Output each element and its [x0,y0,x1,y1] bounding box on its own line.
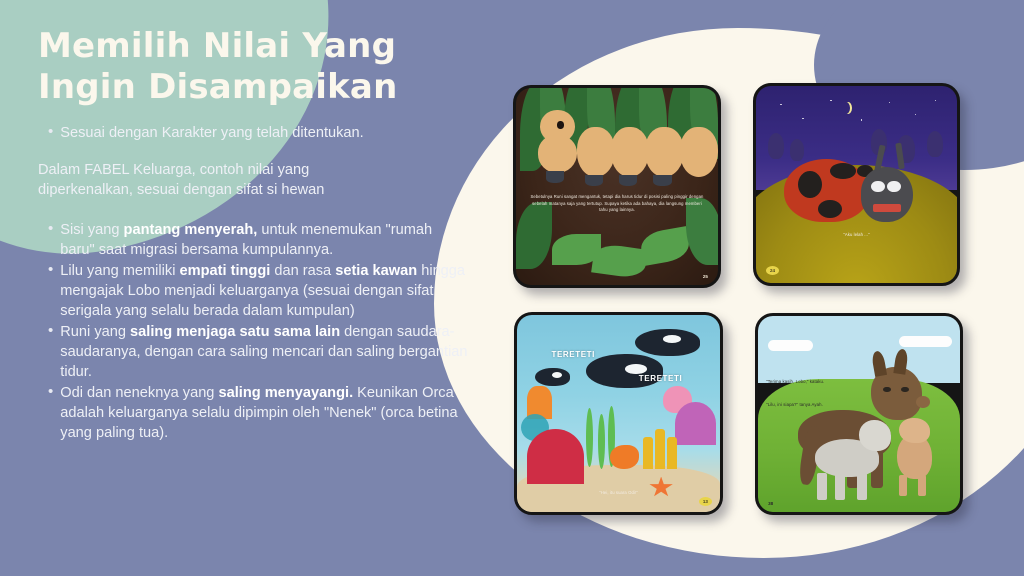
star-icon [780,104,782,106]
wolf-snout [916,396,930,408]
text-column: Memilih Nilai Yang Ingin Disampaikan • S… [0,0,500,576]
pup-leg [817,473,827,500]
tree-icon [790,139,804,161]
seaweed [586,408,593,467]
card-caption: Sebetulnya Runi sangat mengantuk, tetapi… [528,194,706,213]
pup-leg [835,473,845,500]
bullet-dot-icon: • [48,382,53,401]
bullet-dot-icon: • [48,219,53,238]
ladybug-spot [830,163,856,179]
lead-paragraph: Dalam FABEL Keluarga, contoh nilai yang … [38,160,398,200]
coral-red [527,429,584,484]
orca-eye-patch [625,364,647,374]
duckling-foot [546,171,564,183]
duckling-body [577,127,615,176]
pup-leg [857,473,867,500]
sound-label: TERETETI [639,374,682,383]
duckling-body [538,135,576,172]
clownfish [610,445,638,469]
duckling-foot [653,175,671,187]
value-list-item: •Lilu yang memiliki empati tinggi dan ra… [48,261,468,321]
page-title: Memilih Nilai Yang Ingin Disampaikan [38,26,482,109]
page-number: 13 [699,497,712,506]
values-list: •Sisi yang pantang menyerah, untuk menem… [38,220,482,443]
ladybug-mouth [873,204,901,212]
gallery-card-meadow-wolves[interactable]: "Terima kasih, Lobo," kataku. "Lilu, ini… [755,313,963,515]
duckling-body [645,127,683,176]
value-list-item-text: Lilu yang memiliki empati tinggi dan ras… [60,261,468,321]
pup-leg [918,475,926,497]
first-bullet-item: • Sesuai dengan Karakter yang telah dite… [38,123,482,143]
value-list-item-text: Runi yang saling menjaga satu sama lain … [60,322,468,382]
duckling-eye [557,121,563,128]
wolf-pup-grey-head [859,420,891,451]
wolf-pup-tan-head [899,418,929,443]
duckling-body [680,127,718,176]
pup-leg [899,475,907,497]
sound-label: TERETETI [552,350,595,359]
duckling-foot [585,175,603,187]
tube-coral [667,437,677,469]
bullet-dot-icon: • [48,260,53,279]
bullet-dot-icon: • [48,122,53,141]
orca-eye-patch [663,335,681,343]
card-artwork-forest: Sebetulnya Runi sangat mengantuk, tetapi… [516,88,718,285]
value-list-item-text: Sisi yang pantang menyerah, untuk menemu… [60,220,468,260]
value-list-item: •Sisi yang pantang menyerah, untuk menem… [48,220,468,260]
star-icon [861,119,863,121]
duckling-body [611,127,649,176]
tree-icon [768,133,784,159]
tube-coral [655,429,665,468]
orca-eye-patch [552,372,562,378]
tube-coral [643,437,653,469]
star-icon [802,118,804,120]
first-bullet-text: Sesuai dengan Karakter yang telah ditent… [60,123,363,143]
value-list-item: •Odi dan neneknya yang saling menyayangi… [48,383,468,443]
card-caption: "Hei, itu suara Odi!" [529,490,708,496]
value-list-item: •Runi yang saling menjaga satu sama lain… [48,322,468,382]
card-artwork-ocean: TERETETI TERETETI "Hei, itu suara Odi!" … [517,315,720,512]
card-artwork-ladybug: "Aku lelah ..." 24 [756,86,957,283]
ladybug-eye [871,181,885,193]
page-number: 25 [703,274,708,279]
image-gallery: Sebetulnya Runi sangat mengantuk, tetapi… [500,0,1024,576]
card-caption-line-2: "Lilu, ini siapa?" tanya Ayah. [766,402,883,408]
gallery-card-night-ladybug[interactable]: "Aku lelah ..." 24 [753,83,960,286]
card-caption-line-1: "Terima kasih, Lobo," kataku. [766,379,879,385]
gallery-card-ocean-orca[interactable]: TERETETI TERETETI "Hei, itu suara Odi!" … [514,312,723,515]
duckling-foot [619,175,637,187]
coral-purple [675,402,716,445]
ladybug-head [861,167,913,222]
ladybug-eye [887,181,901,193]
slide-canvas: Memilih Nilai Yang Ingin Disampaikan • S… [0,0,1024,576]
page-number: 38 [768,501,773,506]
gallery-card-forest-ducklings[interactable]: Sebetulnya Runi sangat mengantuk, tetapi… [513,85,721,288]
cloud-icon [768,340,812,352]
value-list-item-text: Odi dan neneknya yang saling menyayangi.… [60,383,468,443]
card-caption: "Aku lelah ..." [768,232,945,238]
orca-adult [635,329,700,357]
tree-icon [927,131,943,157]
bullet-dot-icon: • [48,321,53,340]
card-artwork-meadow: "Terima kasih, Lobo," kataku. "Lilu, ini… [758,316,960,512]
cloud-icon [899,336,952,348]
